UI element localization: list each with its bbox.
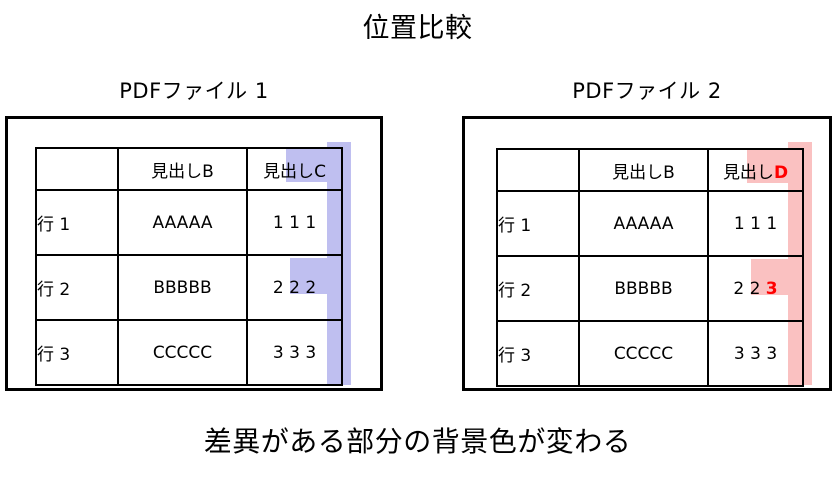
header-cell-c: 見出しC <box>247 148 342 190</box>
header-c-prefix: 見出し <box>263 162 314 182</box>
header-cell-blank <box>497 149 579 191</box>
comparison-table-left: 見出しB 見出しC 行 1 AAAAA 1 1 1 行 2 BBBBB 2 2 … <box>35 147 343 386</box>
header-cell-b: 見出しB <box>118 148 247 190</box>
row-label-1: 行 1 <box>497 191 579 256</box>
row-label-3: 行 3 <box>36 320 118 385</box>
table-row: 行 1 AAAAA 1 1 1 <box>497 191 803 256</box>
row-3-col-b: CCCCC <box>118 320 247 385</box>
header-cell-blank <box>36 148 118 190</box>
header-cell-d: 見出しD <box>708 149 803 191</box>
comparison-table-right: 見出しB 見出しD 行 1 AAAAA 1 1 1 行 2 BBBBB 2 2 … <box>496 148 804 387</box>
table-row: 行 3 CCCCC 3 3 3 <box>36 320 342 385</box>
row-2-col-b: BBBBB <box>579 256 708 321</box>
row-2-col-b: BBBBB <box>118 255 247 320</box>
row-2-col-c: 2 2 2 <box>247 255 342 320</box>
row-3-col-c: 3 3 3 <box>247 320 342 385</box>
row-1-col-c: 1 1 1 <box>247 190 342 255</box>
row-1-col-b: AAAAA <box>579 191 708 256</box>
header-d-prefix: 見出し <box>723 163 774 183</box>
row-3-col-b: CCCCC <box>579 321 708 386</box>
table-row: 行 3 CCCCC 3 3 3 <box>497 321 803 386</box>
table-row: 行 2 BBBBB 2 2 3 <box>497 256 803 321</box>
row-3-col-d: 3 3 3 <box>708 321 803 386</box>
row-1-col-b: AAAAA <box>118 190 247 255</box>
row-label-2: 行 2 <box>497 256 579 321</box>
header-cell-b: 見出しB <box>579 149 708 191</box>
row-2-col-d: 2 2 3 <box>708 256 803 321</box>
bottom-caption: 差異がある部分の背景色が変わる <box>0 424 835 460</box>
row-2-col-d-diffchar: 3 <box>766 279 778 299</box>
table-header-row: 見出しB 見出しD <box>497 149 803 191</box>
row-label-2: 行 2 <box>36 255 118 320</box>
page-title: 位置比較 <box>0 12 835 46</box>
panel-caption-left: PDFファイル 1 <box>5 78 383 104</box>
table-row: 行 2 BBBBB 2 2 2 <box>36 255 342 320</box>
header-c-diffchar: C <box>314 162 326 182</box>
header-d-diffchar: D <box>774 163 788 183</box>
row-1-col-d: 1 1 1 <box>708 191 803 256</box>
row-label-3: 行 3 <box>497 321 579 386</box>
table-header-row: 見出しB 見出しC <box>36 148 342 190</box>
row-2-col-c-diffchar: 2 <box>305 278 316 298</box>
row-label-1: 行 1 <box>36 190 118 255</box>
table-row: 行 1 AAAAA 1 1 1 <box>36 190 342 255</box>
panel-caption-right: PDFファイル 2 <box>462 78 832 104</box>
